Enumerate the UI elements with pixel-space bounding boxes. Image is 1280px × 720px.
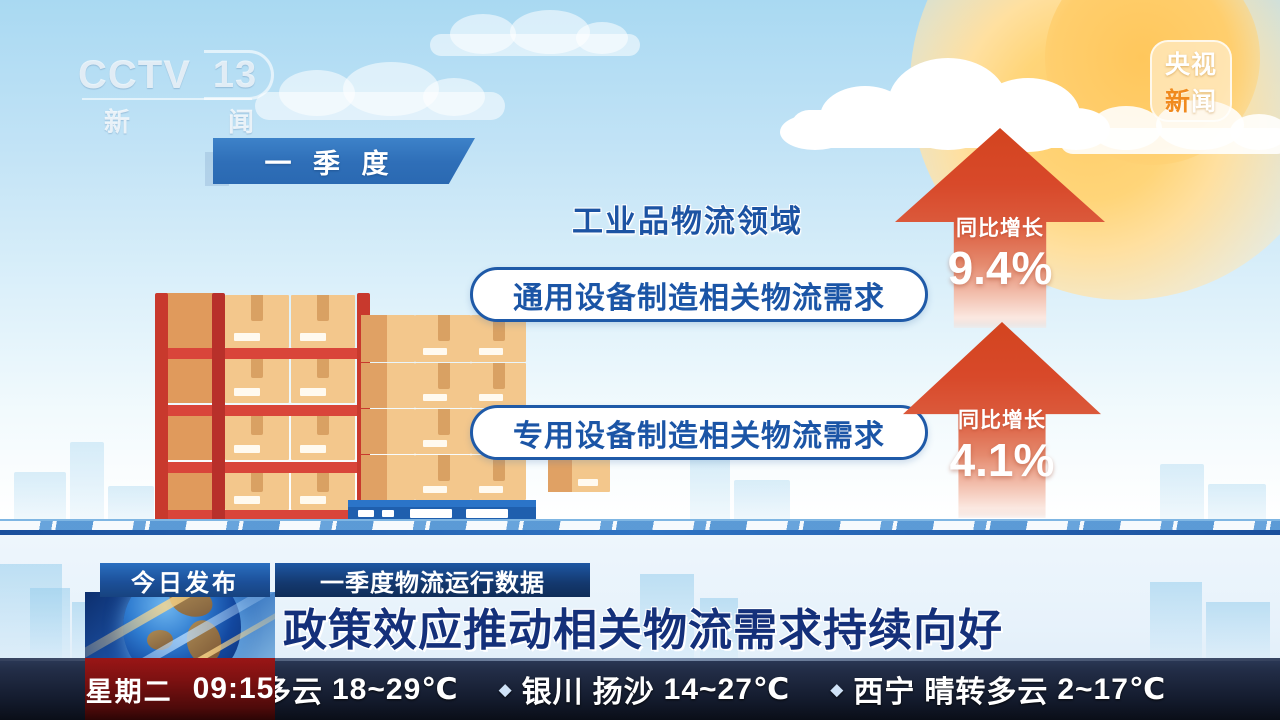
weather-condition: 晴转多云 <box>924 667 1048 711</box>
rack-box <box>291 295 355 348</box>
pallet <box>348 500 536 521</box>
headline-text: 政策效应推动相关物流需求持续向好 <box>283 594 1003 658</box>
metric-label-general-equipment[interactable]: 通用设备制造相关物流需求 <box>470 267 928 322</box>
bullet-icon: ◆ <box>499 681 513 698</box>
stack-box <box>415 363 471 408</box>
weather-condition: 多云 <box>275 667 323 711</box>
growth-label: 同比增长 <box>958 404 1046 434</box>
weather-item: 多云 18~29℃ <box>275 667 459 711</box>
ticker-weekday: 星期二 <box>86 670 173 709</box>
cloud-left <box>255 62 505 120</box>
yangshi-news-logo: 央视 新闻 <box>1150 40 1232 122</box>
stack-box <box>361 455 415 500</box>
rack-box <box>225 352 289 403</box>
globe-sphere <box>123 592 241 664</box>
weather-condition: 扬沙 <box>593 667 655 711</box>
cctv-logo-underline <box>82 98 252 100</box>
cctv-text: CCTV <box>78 53 191 98</box>
metric-label-text: 专用设备制造相关物流需求 <box>513 411 885 455</box>
headline: 政策效应推动相关物流需求持续向好 <box>283 600 1143 652</box>
tag-today-label: 今日发布 <box>131 563 239 598</box>
rack-box <box>225 409 289 460</box>
stack-box <box>471 455 526 500</box>
quarter-tab[interactable]: 一 季 度 <box>213 138 475 184</box>
bullet-icon: ◆ <box>830 681 844 698</box>
stack-box <box>415 315 471 362</box>
weather-temp: 18~29℃ <box>332 672 459 707</box>
growth-value: 9.4% <box>948 244 1053 292</box>
stack-box <box>361 409 415 454</box>
weather-city: 西宁 <box>853 667 915 711</box>
tag-today[interactable]: 今日发布 <box>100 563 270 597</box>
rack-box <box>225 295 289 348</box>
metric-label-special-equipment[interactable]: 专用设备制造相关物流需求 <box>470 405 928 460</box>
growth-label: 同比增长 <box>956 212 1044 242</box>
cctv-sub-char-right: 闻 <box>228 102 254 139</box>
quarter-tab-label: 一 季 度 <box>213 138 447 184</box>
growth-arrow-caption-1: 同比增长 9.4% <box>895 212 1105 292</box>
weather-ticker[interactable]: 多云 18~29℃ ◆ 银川 扬沙 14~27℃ ◆ 西宁 晴转多云 2~17℃ <box>275 658 1280 720</box>
rack-box <box>291 409 355 460</box>
weather-city: 银川 <box>522 667 584 711</box>
weather-temp: 2~17℃ <box>1057 672 1166 707</box>
rack-box <box>291 352 355 403</box>
stack-box <box>471 315 526 362</box>
cctv-logo-subtitle: 新 闻 <box>104 102 254 139</box>
news-globe-graphic <box>85 592 275 664</box>
cctv-logo-arc <box>204 50 274 100</box>
yangshi-wen-char: 闻 <box>1191 88 1217 116</box>
growth-arrow-caption-2: 同比增长 4.1% <box>903 404 1101 484</box>
yangshi-line2: 新闻 <box>1165 82 1217 118</box>
weather-temp: 14~27℃ <box>664 672 791 707</box>
stack-box <box>361 363 415 408</box>
warehouse-rack <box>155 293 370 521</box>
weather-item: ◆ 银川 扬沙 14~27℃ <box>499 667 791 711</box>
cctv-sub-char-left: 新 <box>104 102 130 139</box>
growth-arrow-up-icon-2: 同比增长 4.1% <box>903 322 1101 518</box>
stack-box <box>548 458 610 492</box>
weather-item: ◆ 西宁 晴转多云 2~17℃ <box>830 667 1166 711</box>
ticker-time: 09:15 <box>193 672 275 706</box>
cctv13-logo: CCTV 13 新 闻 <box>78 52 274 130</box>
stack-box <box>415 455 471 500</box>
section-title: 工业品物流领域 <box>572 196 803 241</box>
stack-box <box>415 409 471 454</box>
cloud-upper-left <box>430 10 640 56</box>
stack-box <box>361 315 415 362</box>
lower-third-top-rule <box>0 530 1280 535</box>
ticker-datetime: 星期二 09:15 <box>85 658 275 720</box>
yangshi-line1: 央视 <box>1165 45 1217 81</box>
growth-arrow-up-icon-1: 同比增长 9.4% <box>895 128 1105 328</box>
broadcast-screen: 一 季 度 工业品物流领域 通用设备制造相关物流需求 专用设备制造相关物流需求 … <box>0 0 1280 720</box>
yangshi-xin-char: 新 <box>1165 88 1191 116</box>
metric-label-text: 通用设备制造相关物流需求 <box>513 273 885 317</box>
tag-topic[interactable]: 一季度物流运行数据 <box>275 563 590 597</box>
growth-value: 4.1% <box>950 436 1055 484</box>
tag-topic-label: 一季度物流运行数据 <box>320 563 545 598</box>
stack-box <box>471 363 526 408</box>
